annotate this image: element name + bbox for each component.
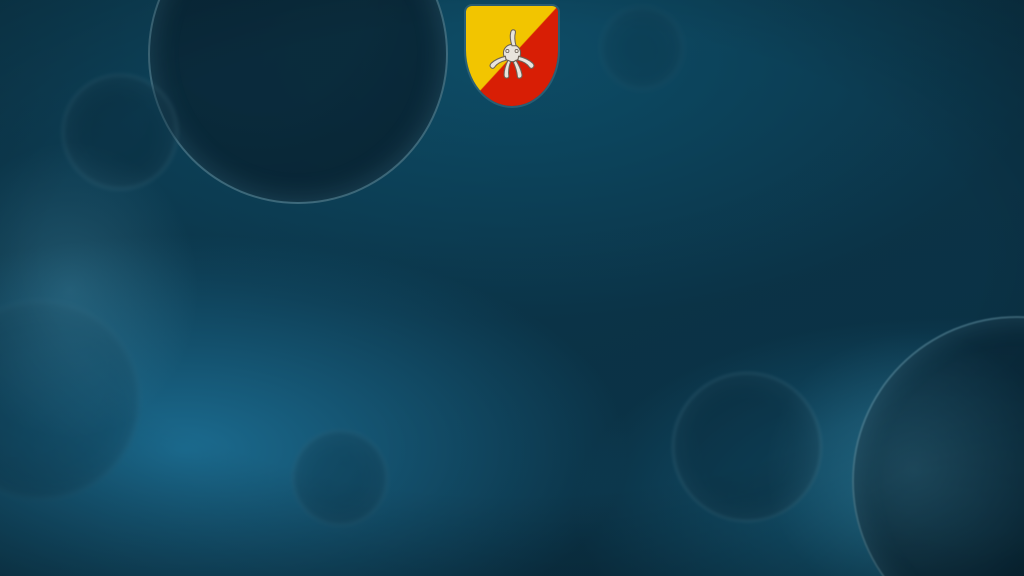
regione-siciliana-logo [0, 6, 1024, 111]
trinacria-emblem-icon [479, 22, 545, 88]
trinacria-shield-icon [466, 6, 558, 106]
